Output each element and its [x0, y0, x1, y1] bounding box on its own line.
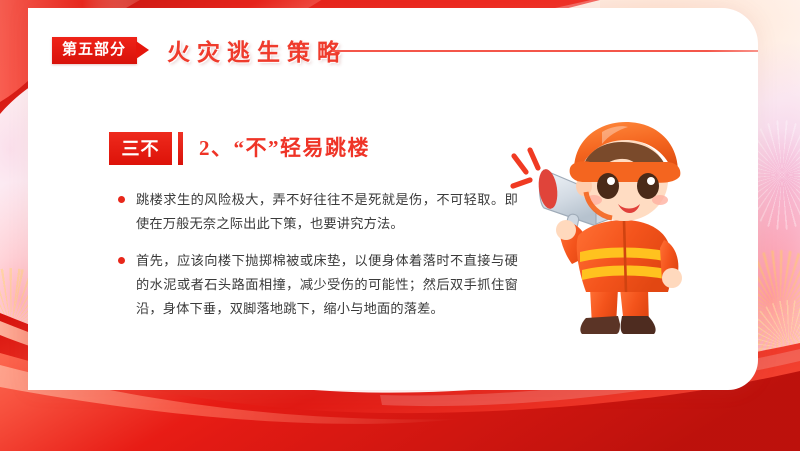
subheading-row: 三不 2、“不”轻易跳楼 — [109, 132, 370, 165]
eye-right — [637, 173, 659, 199]
boot-left-icon — [580, 316, 620, 334]
list-item: 首先，应该向楼下抛掷棉被或床垫，以便身体着落时不直接与硬的水泥或者石头路面相撞，… — [118, 249, 518, 321]
page-title: 火灾逃生策略 — [167, 33, 347, 67]
subheading-accent-bar — [178, 132, 183, 165]
firefighter-child-with-megaphone-illustration — [508, 118, 698, 348]
list-item-text: 首先，应该向楼下抛掷棉被或床垫，以便身体着落时不直接与硬的水泥或者石头路面相撞，… — [136, 249, 518, 321]
boot-right-icon — [621, 316, 656, 334]
sound-wave-icon — [513, 150, 538, 186]
subheading-title: 2、“不”轻易跳楼 — [199, 138, 370, 159]
header-divider — [332, 50, 758, 52]
slide-canvas: 第五部分 火灾逃生策略 三不 2、“不”轻易跳楼 跳楼求生的风险极大，弄不好往往… — [0, 0, 800, 451]
bullet-dot-icon — [118, 196, 125, 203]
bullet-dot-icon — [118, 257, 125, 264]
card-left-edge — [28, 8, 35, 390]
section-badge: 第五部分 — [52, 37, 137, 64]
body-content: 跳楼求生的风险极大，弄不好往往不是死就是伤，不可轻取。即使在万般无奈之际出此下策… — [118, 188, 518, 334]
list-item-text: 跳楼求生的风险极大，弄不好往往不是死就是伤，不可轻取。即使在万般无奈之际出此下策… — [136, 188, 518, 236]
eye-left — [597, 173, 619, 199]
slide-header: 第五部分 火灾逃生策略 — [52, 33, 347, 67]
hand-icon — [662, 268, 682, 288]
subheading-tag: 三不 — [109, 132, 172, 165]
list-item: 跳楼求生的风险极大，弄不好往往不是死就是伤，不可轻取。即使在万般无奈之际出此下策… — [118, 188, 518, 236]
